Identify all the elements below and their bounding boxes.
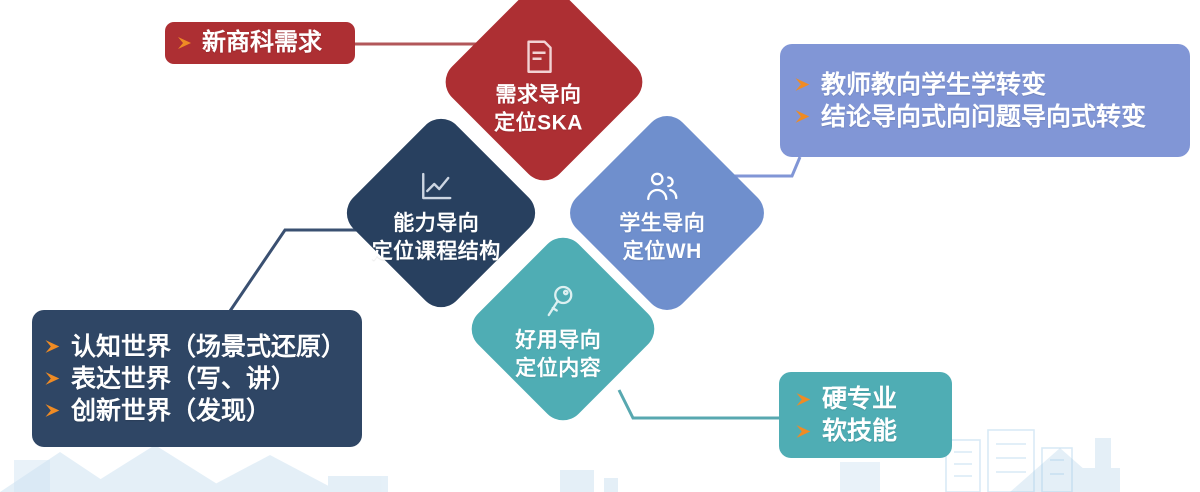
callout-item: 表达世界（写、讲）	[44, 363, 348, 395]
callout-item: 硬专业	[795, 383, 940, 415]
callout-item: 教师教向学生学转变	[794, 69, 1174, 101]
callout-item: 新商科需求	[177, 28, 343, 59]
arrow-bullet-icon	[794, 108, 814, 125]
line-chart-icon	[418, 170, 454, 204]
deco-tower-right	[1095, 438, 1111, 492]
callout-item: 认知世界（场景式还原）	[44, 331, 348, 363]
node-ability-line1: 能力导向	[393, 210, 479, 238]
arrow-bullet-icon	[177, 35, 195, 51]
deco-mountain-right	[1010, 448, 1110, 492]
arrow-bullet-icon	[794, 76, 814, 93]
deco-mountain-left	[0, 452, 120, 492]
arrow-bullet-icon	[795, 391, 815, 408]
document-icon	[521, 38, 555, 76]
node-student-line1: 学生导向	[619, 210, 705, 238]
callout-item: 软技能	[795, 415, 940, 447]
callout-text: 新商科需求	[202, 28, 322, 59]
deco-small-left-1	[14, 460, 50, 492]
diagram-canvas: 需求导向 定位SKA 能力导向 定位课程结构	[0, 0, 1200, 492]
arrow-bullet-icon	[44, 370, 64, 387]
deco-mountain-left3	[200, 455, 340, 492]
callout-text: 结论导向式向问题导向式转变	[821, 101, 1146, 133]
node-student-line2: 定位WH	[623, 238, 702, 266]
callout-new-business-demand[interactable]: 新商科需求	[165, 22, 355, 64]
node-demand-line1: 需求导向	[495, 82, 581, 110]
callout-text: 表达世界（写、讲）	[71, 363, 296, 395]
arrow-bullet-icon	[795, 423, 815, 440]
node-ability-line2: 定位课程结构	[372, 238, 501, 266]
arrow-bullet-icon	[44, 402, 64, 419]
callout-text: 教师教向学生学转变	[821, 69, 1046, 101]
deco-building-outline-2	[988, 430, 1034, 492]
arrow-bullet-icon	[44, 338, 64, 355]
deco-small-left-2	[840, 462, 880, 492]
callout-skills[interactable]: 硬专业 软技能	[779, 372, 952, 458]
callout-item: 创新世界（发现）	[44, 395, 348, 427]
deco-wall-right	[1060, 468, 1120, 492]
callout-text: 软技能	[822, 415, 897, 447]
deco-building-outline-3	[1042, 448, 1072, 492]
callout-text: 创新世界（发现）	[71, 395, 271, 427]
deco-block-center3	[604, 478, 618, 492]
callout-item: 结论导向式向问题导向式转变	[794, 101, 1174, 133]
node-demand-line2: 定位SKA	[494, 110, 583, 138]
callout-text: 认知世界（场景式还原）	[71, 331, 346, 363]
node-usable-line1: 好用导向	[515, 327, 601, 355]
callout-teaching-shift[interactable]: 教师教向学生学转变 结论导向式向问题导向式转变	[780, 44, 1190, 157]
deco-block-center2	[560, 470, 594, 492]
key-icon	[542, 285, 574, 321]
deco-mountain-left2	[80, 445, 230, 492]
people-icon	[643, 170, 681, 204]
connector-usable-to-skill	[619, 390, 779, 418]
callout-three-worlds[interactable]: 认知世界（场景式还原） 表达世界（写、讲） 创新世界（发现）	[32, 310, 362, 447]
node-usable-line2: 定位内容	[515, 355, 601, 383]
deco-block-center	[328, 476, 388, 492]
callout-text: 硬专业	[822, 383, 897, 415]
